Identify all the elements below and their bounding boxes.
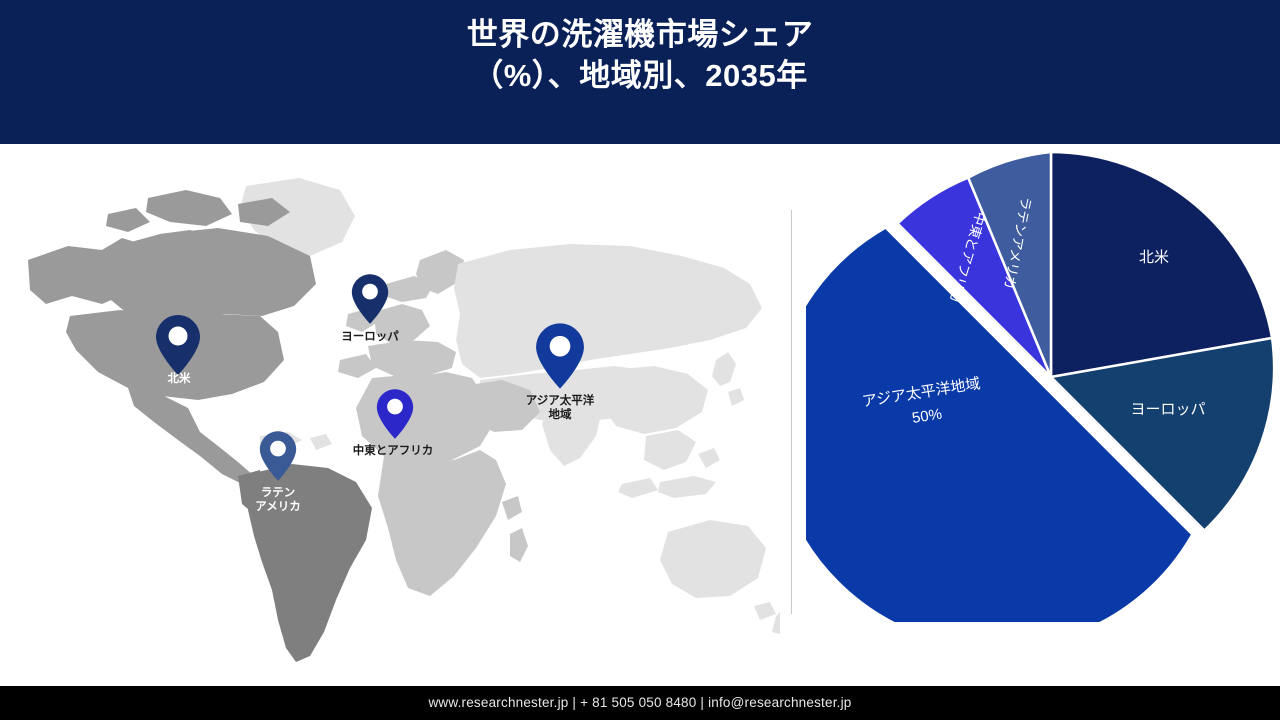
page-title: 世界の洗濯機市場シェア （%）、地域別、2035年 — [0, 14, 1280, 96]
map-label-latin-america: ラテン アメリカ — [255, 486, 300, 514]
map-label-north-america: 北米 — [168, 372, 191, 386]
world-map-panel: 北米 ヨーロッパ ラテン アメリカ 中東とアフリカ — [0, 144, 791, 686]
pie-label-north-america: 北米 — [1139, 249, 1169, 266]
map-label-europe: ヨーロッパ — [341, 330, 399, 344]
footer-bar: www.researchnester.jp | + 81 505 050 848… — [0, 686, 1280, 720]
map-pin-latin-america[interactable] — [259, 430, 297, 482]
map-pin-middle-east-africa[interactable] — [376, 388, 414, 440]
map-pin-north-america[interactable] — [155, 314, 201, 376]
market-share-pie-chart: アジア太平洋地域 50% 北米 ヨーロッパ 中東とアフリカ ラテンアメリカ — [806, 152, 1276, 622]
pie-chart-panel: アジア太平洋地域 50% 北米 ヨーロッパ 中東とアフリカ ラテンアメリカ — [791, 144, 1280, 686]
content-area: 北米 ヨーロッパ ラテン アメリカ 中東とアフリカ — [0, 144, 1280, 686]
map-label-asia-pacific: アジア太平洋 地域 — [526, 394, 595, 422]
pie-label-europe: ヨーロッパ — [1130, 401, 1205, 418]
header-bar: 世界の洗濯機市場シェア （%）、地域別、2035年 — [0, 0, 1280, 144]
footer-contact-text: www.researchnester.jp | + 81 505 050 848… — [0, 686, 1280, 720]
map-label-middle-east-africa: 中東とアフリカ — [353, 444, 434, 458]
map-pin-asia-pacific[interactable] — [535, 322, 585, 390]
map-pin-europe[interactable] — [351, 273, 389, 325]
